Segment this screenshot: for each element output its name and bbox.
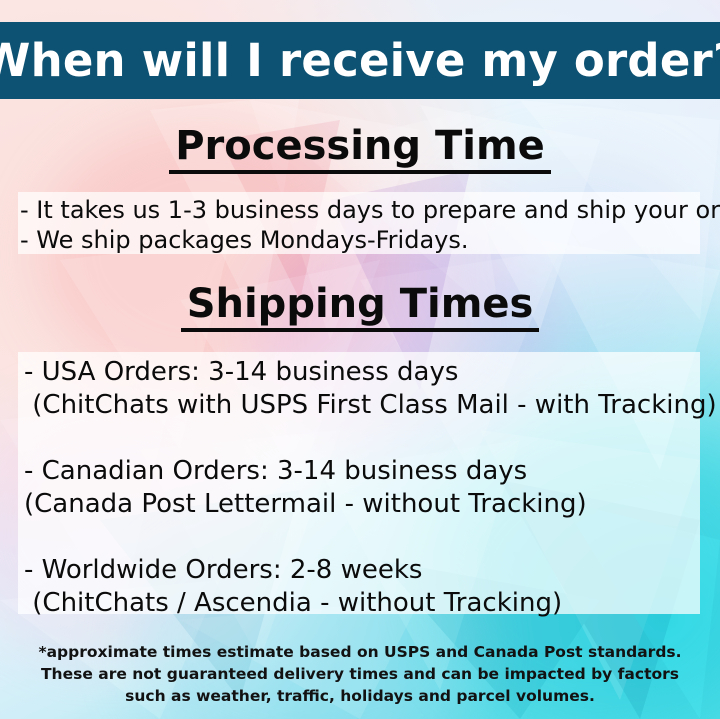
section-heading-shipping-times: Shipping Times bbox=[0, 284, 720, 332]
header-bar: When will I receive my order? bbox=[0, 22, 720, 99]
section-heading-shipping-times-label: Shipping Times bbox=[181, 284, 540, 332]
shipping-times-text: - USA Orders: 3-14 business days (ChitCh… bbox=[24, 356, 717, 620]
section-heading-processing-time-label: Processing Time bbox=[169, 126, 551, 174]
section-heading-processing-time: Processing Time bbox=[0, 126, 720, 174]
page-title: When will I receive my order? bbox=[0, 38, 720, 83]
processing-time-text: - It takes us 1-3 business days to prepa… bbox=[20, 195, 720, 255]
footnote-disclaimer: *approximate times estimate based on USP… bbox=[0, 641, 720, 707]
shipping-info-poster: When will I receive my order? Processing… bbox=[0, 0, 720, 719]
